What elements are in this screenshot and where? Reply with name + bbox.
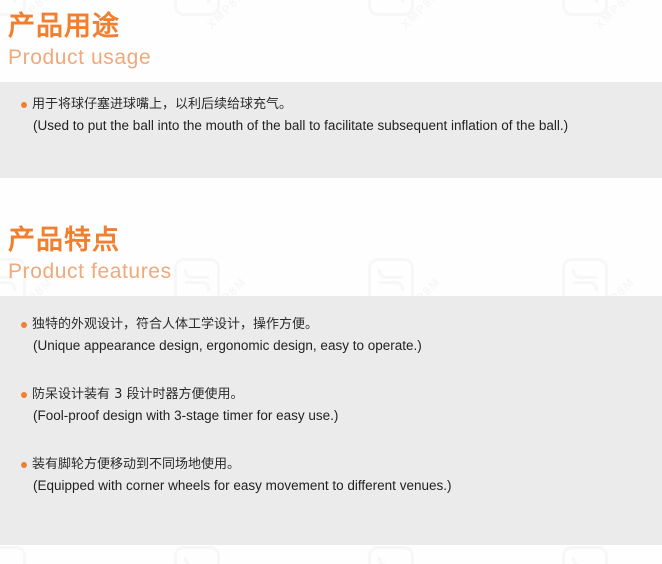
product-info-page: XMP8MXMP8MXMP8MXMP8MXMP8MXMP8MXMP8MXMP8M… [0, 0, 662, 564]
heading-en-usage: Product usage [8, 44, 662, 71]
bullet-text-en: (Used to put the ball into the mouth of … [32, 115, 662, 137]
section-heading-features: 产品特点 Product features [0, 224, 662, 285]
bullet-text-cn: 用于将球仔塞进球嘴上，以利后续给球充气。 [32, 94, 662, 115]
bullet-text-en: (Fool-proof design with 3-stage timer fo… [32, 405, 662, 427]
section-product-usage: 产品用途 Product usage 用于将球仔塞进球嘴上，以利后续给球充气。 … [0, 0, 662, 178]
heading-en-features: Product features [8, 258, 662, 285]
usage-content-band: 用于将球仔塞进球嘴上，以利后续给球充气。 (Used to put the ba… [0, 82, 662, 178]
s-wave-logo-icon [368, 546, 414, 564]
list-item: 装有脚轮方便移动到不同场地使用。 (Equipped with corner w… [0, 454, 662, 497]
bullet-text-cn: 防呆设计装有 3 段计时器方便使用。 [32, 384, 662, 405]
bullet-text-cn: 独特的外观设计，符合人体工学设计，操作方便。 [32, 314, 662, 335]
bullet-text-cn: 装有脚轮方便移动到不同场地使用。 [32, 454, 662, 475]
list-item: 用于将球仔塞进球嘴上，以利后续给球充气。 (Used to put the ba… [0, 94, 662, 137]
watermark-tile: XMP8M [174, 546, 374, 564]
bullet-text-en: (Unique appearance design, ergonomic des… [32, 335, 662, 357]
s-wave-logo-icon [562, 546, 608, 564]
section-heading-usage: 产品用途 Product usage [0, 0, 662, 71]
page-content: 产品用途 Product usage 用于将球仔塞进球嘴上，以利后续给球充气。 … [0, 0, 662, 545]
s-wave-logo-icon [0, 546, 26, 564]
heading-cn-features: 产品特点 [8, 224, 662, 258]
bullet-text-en: (Equipped with corner wheels for easy mo… [32, 475, 662, 497]
bullet-dot-icon [21, 392, 27, 398]
watermark-tile: XMP8M [0, 546, 180, 564]
heading-cn-usage: 产品用途 [8, 10, 662, 44]
watermark-tile: XMP8M [368, 546, 568, 564]
section-divider-gap [0, 178, 662, 224]
features-content-band: 独特的外观设计，符合人体工学设计，操作方便。 (Unique appearanc… [0, 296, 662, 545]
s-wave-logo-icon [174, 546, 220, 564]
list-item: 防呆设计装有 3 段计时器方便使用。 (Fool-proof design wi… [0, 384, 662, 427]
bullet-dot-icon [21, 462, 27, 468]
list-item: 独特的外观设计，符合人体工学设计，操作方便。 (Unique appearanc… [0, 314, 662, 357]
section-product-features: 产品特点 Product features 独特的外观设计，符合人体工学设计，操… [0, 224, 662, 545]
bullet-dot-icon [21, 102, 27, 108]
bullet-dot-icon [21, 322, 27, 328]
watermark-tile: XMP8M [562, 546, 662, 564]
